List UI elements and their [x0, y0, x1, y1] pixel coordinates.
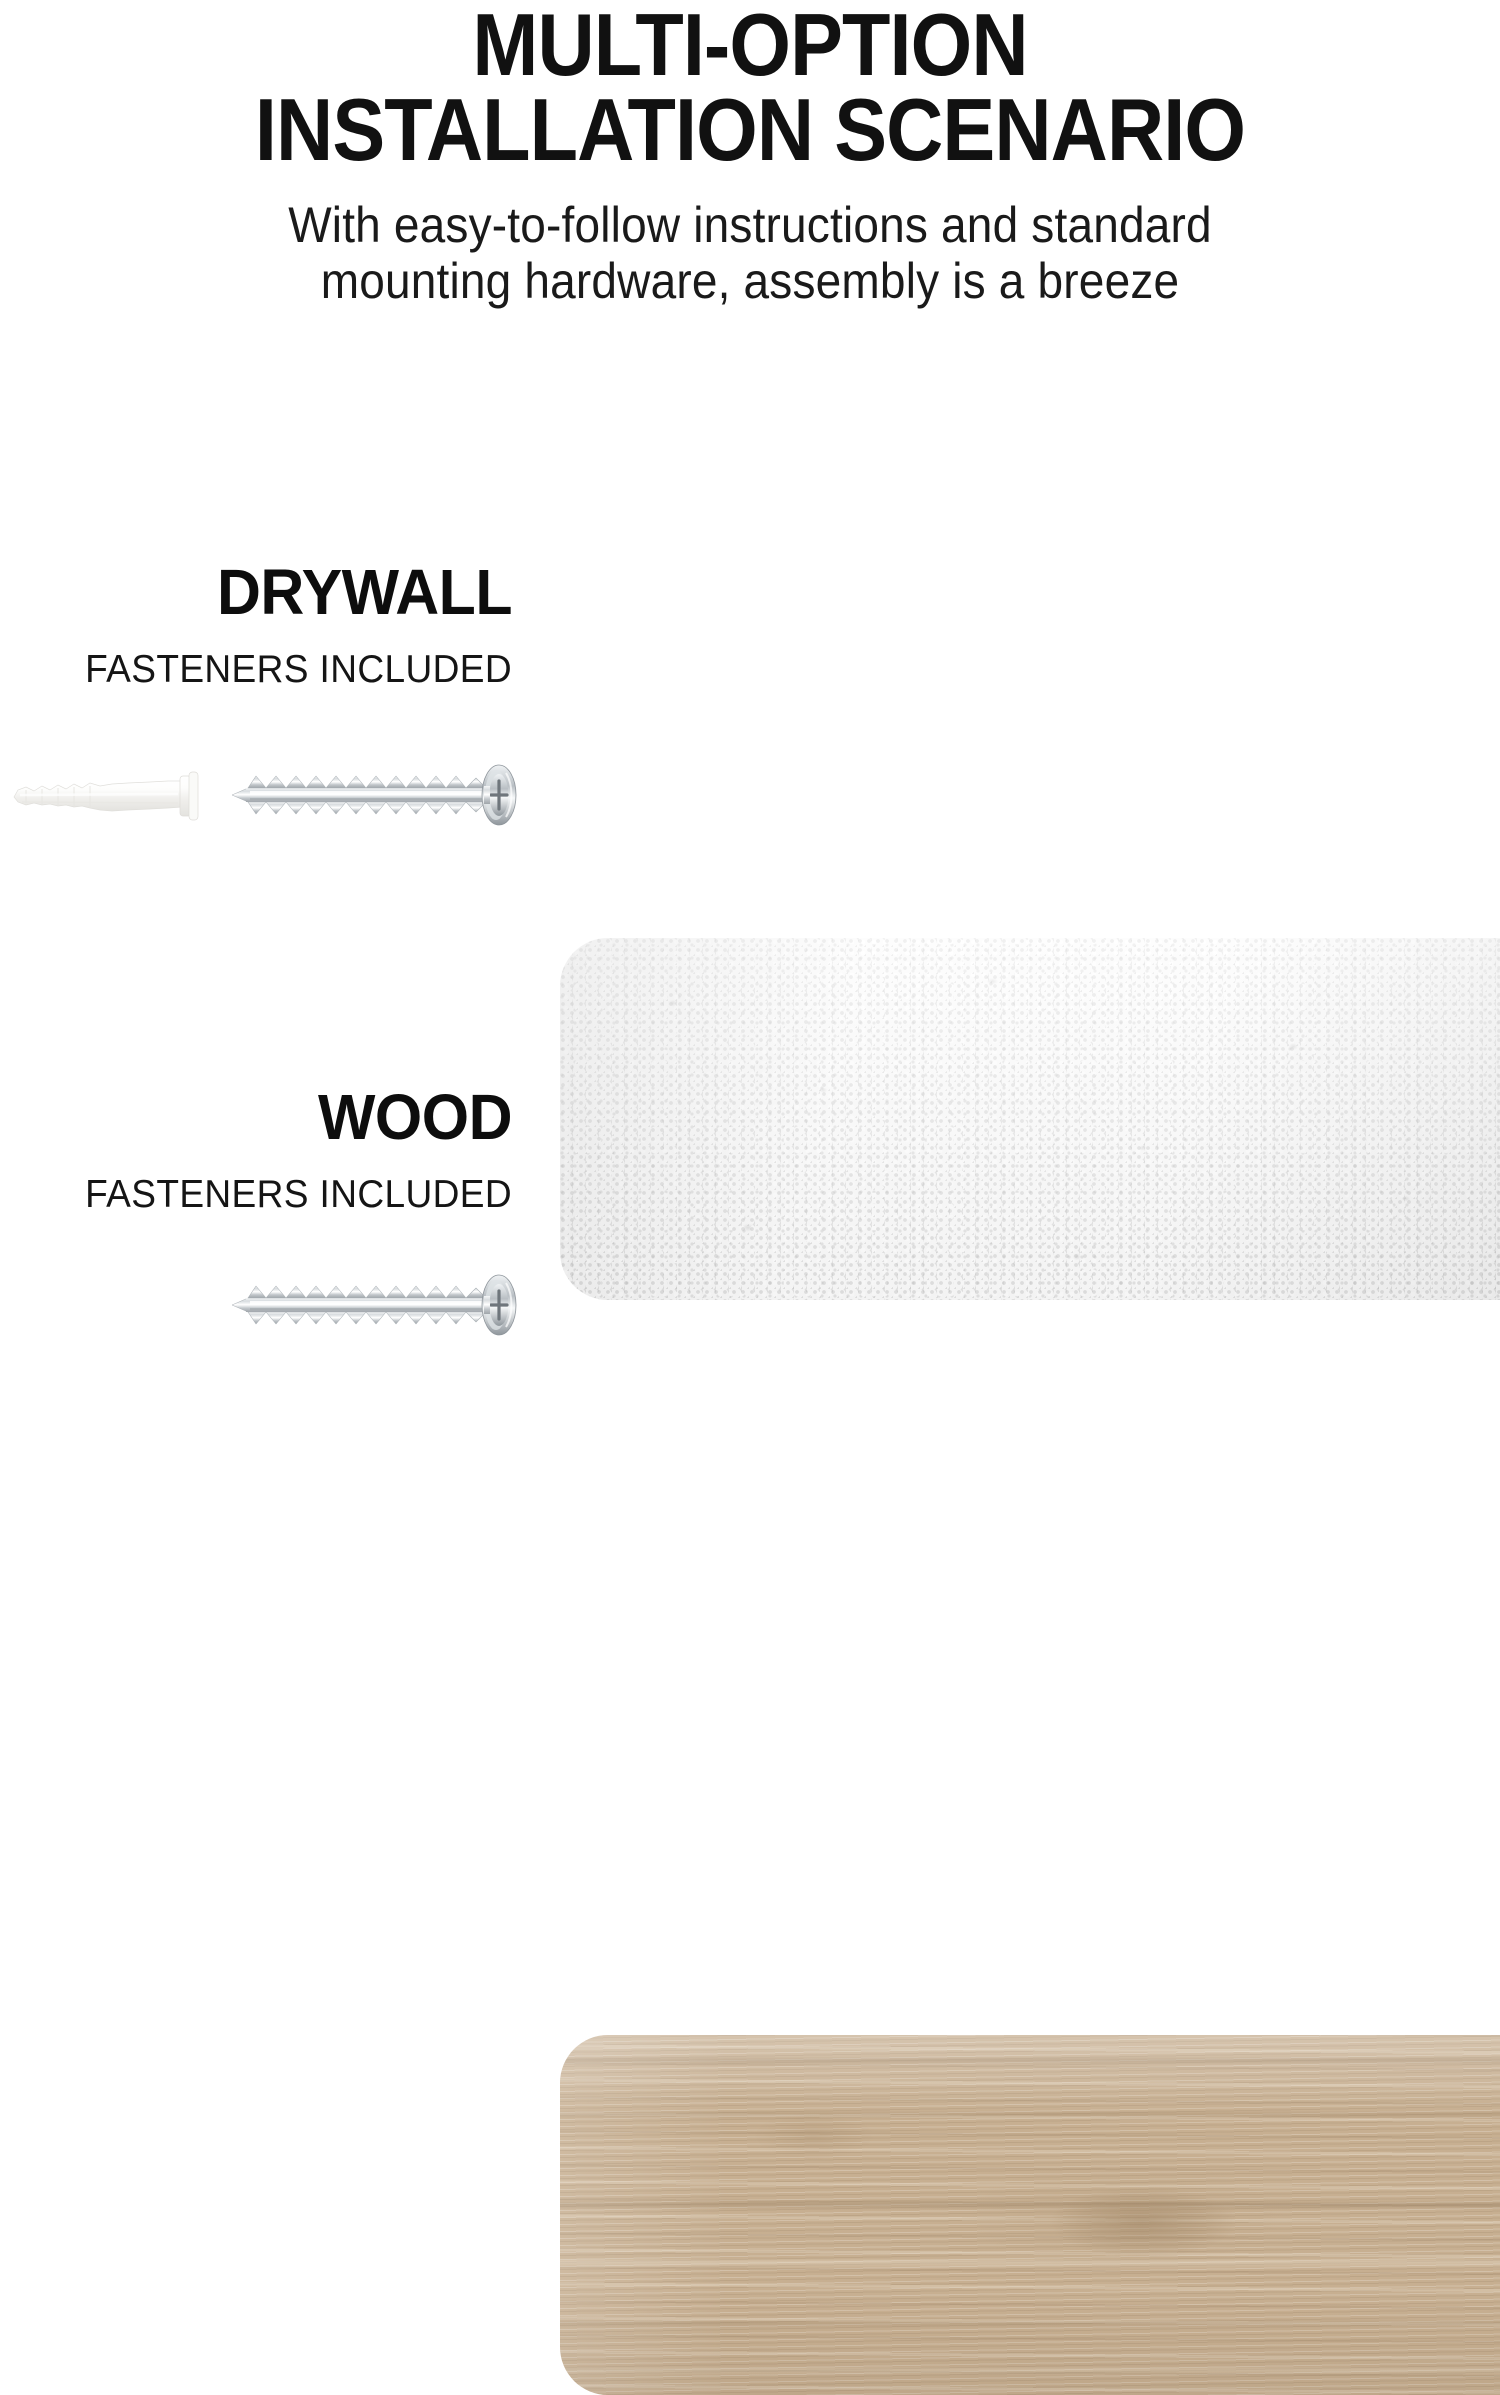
screw-icon — [232, 765, 516, 825]
wood-surface-panel — [560, 2035, 1500, 2395]
section-wood: WOOD FASTENERS INCLUDED — [0, 1010, 1500, 1385]
drywall-hardware-row — [0, 750, 530, 840]
drywall-label-group: DRYWALL FASTENERS INCLUDED — [0, 560, 512, 689]
wood-hardware-row — [0, 1260, 530, 1350]
screw-icon — [232, 1275, 516, 1335]
drywall-material-name: DRYWALL — [26, 560, 512, 624]
wood-material-name: WOOD — [26, 1085, 512, 1149]
page-subtitle: With easy-to-follow instructions and sta… — [60, 197, 1440, 309]
wood-hardware-illustration — [0, 1260, 530, 1350]
wood-label-group: WOOD FASTENERS INCLUDED — [0, 1085, 512, 1214]
header-block: MULTI-OPTION INSTALLATION SCENARIO With … — [0, 0, 1500, 309]
page-title: MULTI-OPTION INSTALLATION SCENARIO — [75, 0, 1425, 173]
section-drywall: DRYWALL FASTENERS INCLUDED — [0, 460, 1500, 860]
wood-shading-overlay — [560, 2035, 1500, 2395]
drywall-hardware-illustration — [0, 750, 530, 840]
wood-fasteners-note: FASTENERS INCLUDED — [26, 1175, 512, 1214]
drywall-fasteners-note: FASTENERS INCLUDED — [26, 650, 512, 689]
wall-anchor-icon — [14, 772, 198, 820]
